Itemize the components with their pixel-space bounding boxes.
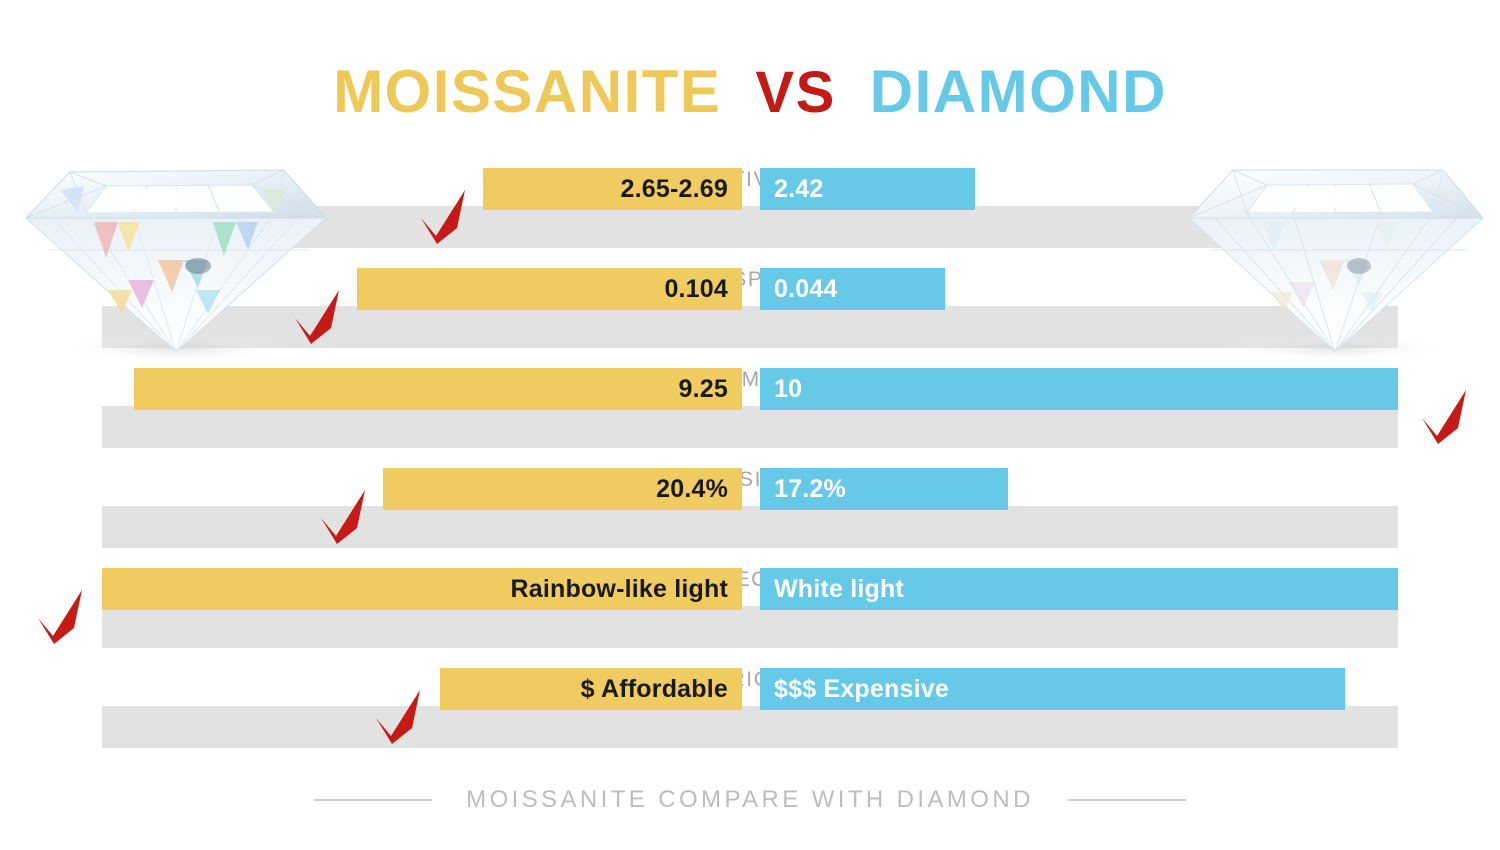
row-label: REFRACTIVE INDEX: [0, 168, 1500, 192]
diamond-bar[interactable]: 2.42: [760, 168, 975, 210]
comparison-row-fire-dispersion: FIRE DISPERSION 0.104 0.044: [0, 268, 1500, 368]
diamond-bar[interactable]: $$$ Expensive: [760, 668, 1345, 710]
row-track: [102, 606, 1398, 648]
row-label: GLOSSINESS: [0, 468, 1500, 492]
checkmark-icon: [372, 688, 426, 744]
row-track: [102, 206, 1398, 248]
diamond-value: 10: [760, 375, 802, 404]
moissanite-bar[interactable]: 2.65-2.69: [483, 168, 742, 210]
footer-caption: MOISSANITE COMPARE WITH DIAMOND: [466, 786, 1034, 814]
row-label: FIRE DISPERSION: [0, 268, 1500, 292]
moissanite-value: $ Affordable: [581, 675, 742, 704]
moissanite-bar[interactable]: Rainbow-like light: [102, 568, 742, 610]
diamond-value: 2.42: [760, 175, 823, 204]
page-title: MOISSANITE VS DIAMOND: [0, 62, 1500, 122]
checkmark-icon: [317, 488, 371, 544]
row-track: [102, 706, 1398, 748]
moissanite-value: 0.104: [664, 275, 742, 304]
diamond-bar[interactable]: White light: [760, 568, 1398, 610]
title-versus: VS: [755, 64, 835, 122]
footer-rule-right: [1068, 799, 1186, 801]
footer: MOISSANITE COMPARE WITH DIAMOND: [0, 786, 1500, 814]
diamond-bar[interactable]: 17.2%: [760, 468, 1008, 510]
footer-rule-left: [314, 799, 432, 801]
comparison-row-glossiness: GLOSSINESS 20.4% 17.2%: [0, 468, 1500, 568]
title-moissanite: MOISSANITE: [333, 62, 721, 122]
moissanite-bar[interactable]: 20.4%: [383, 468, 742, 510]
comparison-row-hardness-mohs-scale: HARDNESS MOHS SCALE 9.25 10: [0, 368, 1500, 468]
comparison-row-price: PRICE $ Affordable $$$ Expensive: [0, 668, 1500, 764]
title-diamond: DIAMOND: [870, 62, 1167, 122]
moissanite-value: Rainbow-like light: [511, 575, 743, 604]
row-track: [102, 506, 1398, 548]
checkmark-icon: [417, 188, 471, 244]
comparison-row-refractive-index: REFRACTIVE INDEX 2.65-2.69 2.42: [0, 168, 1500, 268]
diamond-value: $$$ Expensive: [760, 675, 949, 704]
comparison-row-reflection: REFLECTION Rainbow-like light White ligh…: [0, 568, 1500, 668]
checkmark-icon: [291, 288, 345, 344]
row-track: [102, 406, 1398, 448]
moissanite-bar[interactable]: 0.104: [357, 268, 742, 310]
moissanite-value: 9.25: [679, 375, 742, 404]
checkmark-icon: [34, 588, 88, 644]
checkmark-icon: [1418, 388, 1472, 444]
diamond-value: 0.044: [760, 275, 838, 304]
diamond-bar[interactable]: 0.044: [760, 268, 945, 310]
diamond-value: White light: [760, 575, 904, 604]
diamond-bar[interactable]: 10: [760, 368, 1398, 410]
comparison-chart: REFRACTIVE INDEX 2.65-2.69 2.42 FIRE DIS…: [0, 168, 1500, 764]
moissanite-value: 20.4%: [656, 475, 742, 504]
diamond-value: 17.2%: [760, 475, 846, 504]
moissanite-bar[interactable]: 9.25: [134, 368, 742, 410]
moissanite-value: 2.65-2.69: [621, 175, 742, 204]
moissanite-bar[interactable]: $ Affordable: [440, 668, 742, 710]
